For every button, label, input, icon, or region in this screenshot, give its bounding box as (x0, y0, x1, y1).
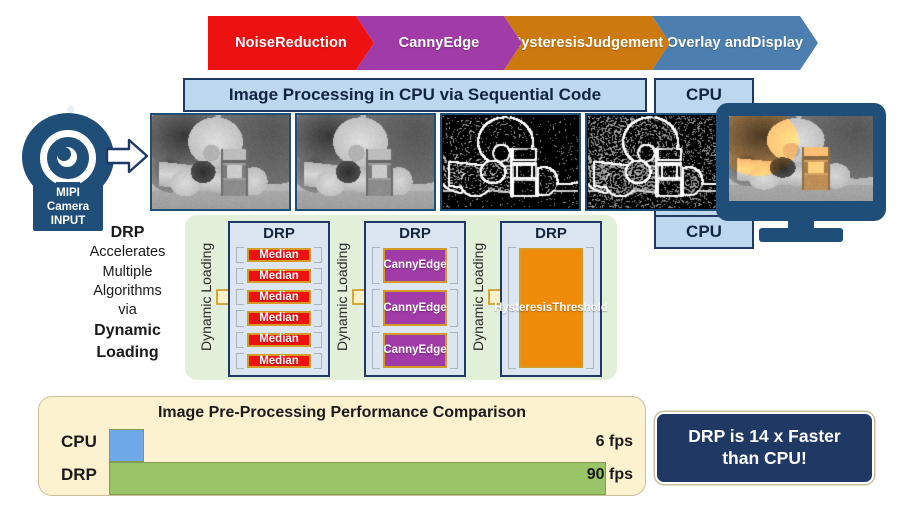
dynamic-loading-label-1: Dynamic Loading (196, 221, 216, 373)
drp-box-1: DRPMedianMedianMedianMedianMedianMedian (228, 221, 330, 377)
bar-label-drp: DRP (61, 465, 97, 485)
drp-algorithm-block[interactable]: Median (247, 311, 311, 325)
drp-desc-line5: via (118, 302, 137, 318)
conclusion-box: DRP is 14 x Faster than CPU! (655, 412, 874, 484)
photo-edges (440, 113, 581, 211)
drp-desc-line2: Accelerates (90, 244, 166, 260)
slot-bracket-left-icon (236, 310, 244, 326)
performance-title: Image Pre-Processing Performance Compari… (39, 404, 645, 422)
drp-algorithm-block[interactable]: Median (247, 290, 311, 304)
drp-desc-line1: DRP (111, 224, 145, 241)
drp-desc-line7: Loading (96, 344, 158, 361)
slot-bracket-right-icon (314, 289, 322, 305)
drp-algorithm-block[interactable]: Median (247, 248, 311, 262)
slot-bracket-left-icon (236, 332, 244, 348)
dynamic-loading-label-3: Dynamic Loading (468, 221, 488, 373)
slot-bracket-left-icon (236, 268, 244, 284)
conclusion-line1: DRP is 14 x Faster (688, 426, 840, 446)
drp-slot: Median (236, 246, 322, 264)
bar-drp (109, 462, 606, 495)
conclusion-line2: than CPU! (722, 448, 807, 468)
drp-slot: Median (236, 309, 322, 327)
monitor-screen (729, 116, 873, 201)
cpu-sequential-header: Image Processing in CPU via Sequential C… (183, 78, 647, 112)
slot-bracket-right-icon (450, 332, 458, 369)
photo-edges-thresholded (585, 113, 726, 211)
slot-bracket-left-icon (236, 247, 244, 263)
drp-algorithm-block[interactable]: HysteresisThreshold (519, 248, 583, 368)
dynamic-loading-label-2: Dynamic Loading (332, 221, 352, 373)
drp-algorithm-block[interactable]: Median (247, 333, 311, 347)
camera-input-arrow-icon (105, 138, 149, 174)
drp-slot: HysteresisThreshold (508, 246, 594, 370)
drp-algorithm-block[interactable]: CannyEdge (383, 248, 447, 283)
pipeline-stage-hysteresis-judgement[interactable]: HysteresisJudgement (504, 16, 670, 70)
slot-bracket-right-icon (314, 268, 322, 284)
slot-bracket-left-icon (236, 289, 244, 305)
drp-description: DRP Accelerates Multiple Algorithms via … (70, 222, 185, 363)
drp-desc-line3: Multiple (103, 264, 153, 280)
drp-algorithm-block[interactable]: CannyEdge (383, 290, 447, 325)
drp-slot: Median (236, 352, 322, 370)
slot-bracket-left-icon (372, 289, 380, 326)
slot-bracket-right-icon (314, 247, 322, 263)
drp-box-title-3: DRP (502, 225, 600, 242)
drp-block-list-3: HysteresisThreshold (508, 246, 594, 370)
slot-bracket-left-icon (236, 353, 244, 369)
drp-block-list-1: MedianMedianMedianMedianMedianMedian (236, 246, 322, 370)
performance-panel: Image Pre-Processing Performance Compari… (38, 396, 646, 496)
slot-bracket-right-icon (314, 310, 322, 326)
drp-slot: Median (236, 267, 322, 285)
drp-slot: Median (236, 331, 322, 349)
drp-slot: CannyEdge (372, 246, 458, 285)
drp-box-title-1: DRP (230, 225, 328, 242)
drp-box-title-2: DRP (366, 225, 464, 242)
slot-bracket-right-icon (314, 353, 322, 369)
slot-bracket-left-icon (372, 247, 380, 284)
drp-slot: CannyEdge (372, 288, 458, 327)
fps-value-cpu: 6 fps (543, 433, 633, 451)
drp-desc-line4: Algorithms (93, 283, 162, 299)
slot-bracket-right-icon (450, 247, 458, 284)
photo-denoised (295, 113, 436, 211)
drp-box-3: DRPHysteresisThreshold (500, 221, 602, 377)
drp-block-list-2: CannyEdgeCannyEdgeCannyEdge (372, 246, 458, 370)
slot-bracket-left-icon (372, 332, 380, 369)
slot-bracket-right-icon (314, 332, 322, 348)
drp-algorithm-block[interactable]: CannyEdge (383, 333, 447, 368)
camera-lens-pupil (57, 147, 71, 161)
pipeline-stage-noise-reduction[interactable]: NoiseReduction (208, 16, 374, 70)
pipeline-stage-canny-edge[interactable]: CannyEdge (356, 16, 522, 70)
camera-indicator-dot (67, 106, 74, 113)
drp-slot: Median (236, 288, 322, 306)
drp-algorithm-block[interactable]: Median (247, 354, 311, 368)
fps-value-drp: 90 fps (543, 466, 633, 484)
camera-label-line2: Camera (47, 200, 89, 214)
drp-algorithm-block[interactable]: Median (247, 269, 311, 283)
slot-bracket-right-icon (450, 289, 458, 326)
drp-box-2: DRPCannyEdgeCannyEdgeCannyEdge (364, 221, 466, 377)
bar-label-cpu: CPU (61, 432, 97, 452)
bar-cpu (109, 429, 144, 462)
drp-desc-line6: Dynamic (94, 322, 161, 339)
drp-slot: CannyEdge (372, 331, 458, 370)
pipeline-stage-overlay-display[interactable]: Overlay andDisplay (652, 16, 818, 70)
photo-original (150, 113, 291, 211)
monitor-base (759, 228, 843, 242)
camera-label-line1: MIPI (56, 186, 80, 200)
